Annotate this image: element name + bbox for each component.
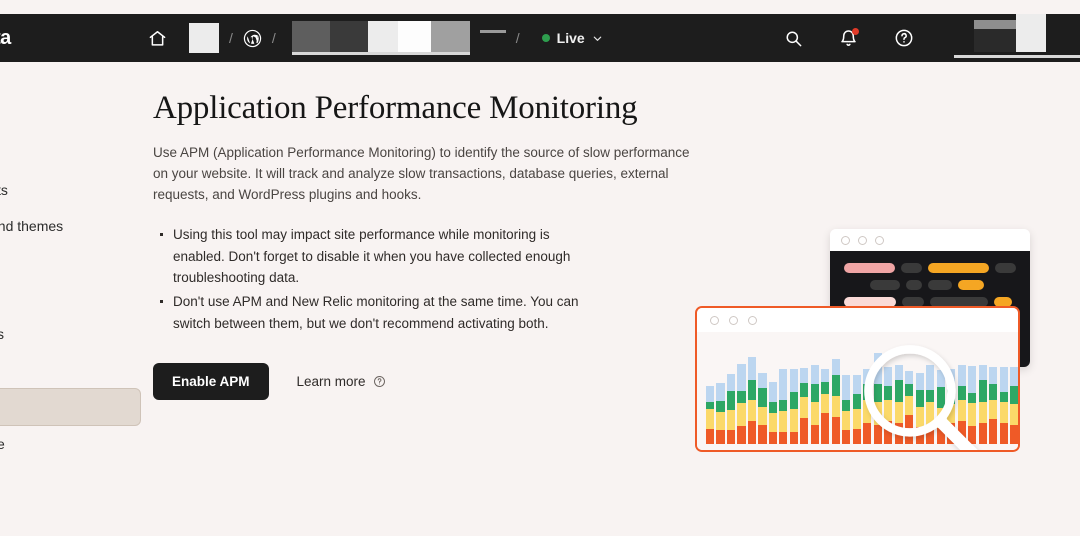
chart-bar-segment-green: [884, 386, 892, 401]
chart-bar-segment-green: [863, 384, 871, 401]
chart-bar-segment-green: [958, 386, 966, 401]
chart-bar-segment-blue: [916, 373, 924, 390]
home-icon[interactable]: [148, 29, 167, 48]
chart-bar-segment-green: [916, 390, 924, 407]
sidebar-item-0[interactable]: s: [0, 80, 141, 116]
sidebar-item-4[interactable]: s: [0, 244, 141, 280]
chart-bar-segment-blue: [821, 369, 829, 381]
chart-bar-segment-yellow: [1010, 404, 1018, 425]
chart-bar-segment-blue: [842, 375, 850, 400]
chart-bar-segment-green: [821, 382, 829, 394]
chart-window: [695, 306, 1020, 452]
chart-bar: [968, 366, 976, 444]
window-dot: [748, 316, 757, 325]
chart-bar: [821, 369, 829, 444]
chart-bar-segment-blue: [1010, 367, 1018, 386]
chart-bar-segment-yellow: [905, 396, 913, 415]
chart-bar-segment-green: [758, 388, 766, 407]
chart-bar-segment-green: [842, 400, 850, 410]
chart-bar-segment-orange: [821, 413, 829, 444]
chart-bar-segment-green: [968, 393, 976, 403]
chart-bar-segment-yellow: [937, 408, 945, 429]
chart-bar-segment-blue: [1000, 367, 1008, 392]
chart-bar-segment-orange: [1010, 425, 1018, 444]
chart-bar-segment-blue: [947, 369, 955, 388]
action-row: Enable APM Learn more: [153, 363, 713, 400]
chart-bar: [716, 383, 724, 444]
chart-bar-segment-yellow: [968, 403, 976, 426]
question-circle-icon: [373, 375, 386, 388]
chart-bar-segment-orange: [926, 425, 934, 444]
chart-bar: [800, 368, 808, 444]
sidebar-item-label: se: [0, 436, 5, 452]
chart-bar-segment-orange: [779, 432, 787, 444]
redacted-path-segment: [480, 30, 506, 33]
redacted-site-logo: [189, 23, 219, 53]
brand-logo[interactable]: ta: [0, 27, 30, 50]
page-title: Application Performance Monitoring: [153, 90, 713, 127]
window-dot: [710, 316, 719, 325]
chart-bar-segment-yellow: [779, 411, 787, 432]
chart-bar-segment-orange: [800, 418, 808, 444]
performance-chart: [697, 332, 1018, 450]
learn-more-label: Learn more: [297, 374, 366, 389]
sidebar-item-label: cs: [0, 326, 4, 342]
chart-bar-segment-blue: [758, 373, 766, 388]
top-bar: ta / / / Live: [0, 14, 1080, 62]
breadcrumb-separator-1: /: [229, 30, 233, 46]
live-status-dot: [542, 34, 550, 42]
chart-bar-segment-green: [832, 375, 840, 396]
search-icon[interactable]: [784, 29, 803, 48]
chart-bar-segment-blue: [926, 365, 934, 390]
chart-bar: [905, 371, 913, 444]
chart-bar-segment-green: [947, 388, 955, 405]
chart-bar-segment-green: [905, 384, 913, 396]
code-line: [844, 280, 1016, 290]
chart-bar: [842, 375, 850, 444]
window-dot: [875, 236, 884, 245]
chart-bar: [895, 365, 903, 444]
chart-bar-segment-orange: [989, 419, 997, 444]
chart-bar-segment-yellow: [800, 397, 808, 418]
chart-bar: [884, 367, 892, 444]
chart-bar-segment-orange: [842, 430, 850, 444]
top-bar-actions: [784, 18, 1080, 58]
chart-bar-segment-yellow: [958, 400, 966, 421]
chart-bar-segment-blue: [979, 365, 987, 380]
sidebar-item-3[interactable]: and themes: [0, 208, 141, 244]
chart-bar-segment-yellow: [716, 412, 724, 431]
chart-bar-segment-green: [716, 401, 724, 411]
chart-bar-segment-yellow: [737, 403, 745, 426]
sidebar-item-5[interactable]: r: [0, 280, 141, 316]
chart-bar-segment-yellow: [947, 404, 955, 423]
chart-bar-segment-orange: [716, 430, 724, 444]
chart-bar-segment-green: [979, 380, 987, 403]
chart-bar-segment-blue: [989, 367, 997, 384]
chart-bar-segment-orange: [853, 429, 861, 444]
chart-bar-segment-yellow: [916, 407, 924, 428]
sidebar: s s cts and themes s r cs g se: [0, 62, 141, 536]
sidebar-item-6[interactable]: cs: [0, 316, 141, 352]
chart-bar: [916, 373, 924, 444]
chart-bar-segment-yellow: [1000, 402, 1008, 423]
chart-bar-segment-green: [790, 392, 798, 409]
chart-bar: [926, 365, 934, 444]
chart-bar-segment-yellow: [979, 402, 987, 423]
notification-badge: [852, 28, 859, 35]
chart-bar-segment-green: [811, 384, 819, 403]
chart-bar: [958, 365, 966, 444]
chart-bar-segment-yellow: [863, 400, 871, 423]
chart-bar-segment-yellow: [769, 413, 777, 432]
chart-bar-segment-yellow: [758, 407, 766, 426]
chart-bar-segment-orange: [958, 421, 966, 444]
chart-bar: [779, 369, 787, 444]
chart-bar-segment-green: [895, 380, 903, 403]
chart-bar: [811, 365, 819, 444]
chart-bar-segment-yellow: [895, 402, 903, 423]
chart-bar: [790, 369, 798, 444]
chart-bar-segment-blue: [937, 370, 945, 387]
breadcrumb-separator-3: /: [516, 30, 520, 46]
environment-label: Live: [557, 30, 585, 46]
chart-bar-segment-blue: [863, 369, 871, 384]
chart-bar-segment-blue: [727, 374, 735, 391]
chart-bar-segment-orange: [748, 421, 756, 444]
chart-bar-segment-green: [727, 391, 735, 410]
enable-apm-button[interactable]: Enable APM: [153, 363, 269, 400]
chart-bar-segment-yellow: [790, 409, 798, 432]
chart-bar: [832, 359, 840, 444]
chart-bar-segment-orange: [874, 425, 882, 444]
chart-bar-segment-orange: [790, 432, 798, 444]
chart-bar-segment-green: [737, 391, 745, 403]
sidebar-item-label: cts: [0, 182, 8, 198]
chart-bar-segment-blue: [853, 375, 861, 394]
chart-bar-segment-green: [1000, 392, 1008, 402]
chart-bar-segment-blue: [748, 357, 756, 380]
chart-bar-segment-blue: [895, 365, 903, 380]
chart-bar-segment-yellow: [706, 409, 714, 430]
chart-bar-segment-yellow: [811, 402, 819, 425]
sidebar-item-active-apm[interactable]: [0, 388, 141, 426]
chart-bar: [1010, 367, 1018, 444]
breadcrumb-separator-2: /: [272, 30, 276, 46]
chart-bar-segment-blue: [716, 383, 724, 402]
chart-bar-segment-orange: [832, 417, 840, 444]
window-dot: [729, 316, 738, 325]
chart-bar-segment-orange: [937, 428, 945, 444]
sidebar-item-1[interactable]: s: [0, 116, 141, 152]
chart-bar-segment-orange: [916, 427, 924, 444]
wordpress-icon[interactable]: [243, 29, 262, 48]
chart-bar-segment-blue: [874, 353, 882, 384]
notes-list: Using this tool may impact site performa…: [153, 224, 603, 335]
chart-bar-segment-orange: [706, 429, 714, 444]
intro-paragraph: Use APM (Application Performance Monitor…: [153, 143, 701, 206]
list-item: Using this tool may impact site performa…: [153, 224, 603, 290]
apm-monitoring-illustration: [690, 222, 1040, 472]
chart-bar: [1000, 367, 1008, 444]
window-dot: [858, 236, 867, 245]
chart-bar-segment-yellow: [748, 400, 756, 421]
chart-bar-segment-orange: [1000, 423, 1008, 444]
redacted-user-account: [954, 18, 1080, 58]
chart-bar: [737, 364, 745, 444]
chart-bar: [989, 367, 997, 444]
chart-bar-segment-orange: [758, 425, 766, 444]
question-circle-icon[interactable]: [894, 28, 914, 48]
chart-bar: [727, 374, 735, 444]
sidebar-spacer: [0, 152, 141, 172]
chart-bar: [979, 365, 987, 444]
sidebar-item-9[interactable]: se: [0, 426, 141, 462]
chart-bar-segment-green: [874, 384, 882, 403]
chart-bar: [937, 370, 945, 444]
chart-bar-segment-orange: [811, 425, 819, 444]
chart-bar-segment-green: [989, 384, 997, 401]
chart-window-titlebar: [697, 308, 1018, 332]
chart-bar-segment-orange: [737, 426, 745, 444]
chart-bar-segment-yellow: [832, 396, 840, 417]
chart-bar-segment-green: [926, 390, 934, 402]
chart-bar: [863, 369, 871, 444]
chart-bar-segment-yellow: [874, 402, 882, 425]
window-dot: [841, 236, 850, 245]
chart-bar: [706, 386, 714, 444]
main-content: Application Performance Monitoring Use A…: [153, 62, 713, 400]
chart-bar: [853, 375, 861, 444]
chart-bar-segment-orange: [947, 423, 955, 444]
chart-bar-segment-green: [800, 383, 808, 398]
chart-bar-segment-yellow: [853, 409, 861, 430]
chart-bar-segment-green: [937, 387, 945, 408]
chart-bars: [697, 340, 1018, 444]
chart-bar-segment-orange: [979, 423, 987, 444]
chart-bar-segment-orange: [968, 426, 976, 444]
chart-bar-segment-orange: [895, 423, 903, 444]
chart-bar: [748, 357, 756, 444]
chart-bar: [874, 353, 882, 445]
chart-bar-segment-orange: [769, 432, 777, 444]
chart-bar: [769, 382, 777, 444]
chart-bar-segment-yellow: [926, 402, 934, 425]
chart-bar-segment-orange: [884, 421, 892, 444]
sidebar-item-label: and themes: [0, 218, 63, 234]
chart-bar-segment-blue: [800, 368, 808, 383]
chart-bar-segment-yellow: [989, 400, 997, 419]
redacted-site-name: [292, 21, 470, 55]
learn-more-link[interactable]: Learn more: [297, 374, 386, 389]
app-root: ta / / / Live: [0, 0, 1080, 536]
chart-bar-segment-green: [853, 394, 861, 409]
chart-bar-segment-blue: [884, 367, 892, 386]
chart-bar: [758, 373, 766, 444]
chart-bar-segment-blue: [832, 359, 840, 376]
chart-bar-segment-blue: [706, 386, 714, 403]
list-item: Don't use APM and New Relic monitoring a…: [153, 291, 603, 335]
chart-bar-segment-orange: [863, 423, 871, 444]
chart-bar-segment-blue: [958, 365, 966, 386]
chart-bar-segment-blue: [779, 369, 787, 400]
chart-bar-segment-yellow: [884, 400, 892, 421]
chart-bar: [947, 369, 955, 444]
chart-bar-segment-yellow: [821, 394, 829, 413]
bell-icon[interactable]: [839, 29, 858, 48]
sidebar-item-2[interactable]: cts: [0, 172, 141, 208]
chart-bar-segment-orange: [727, 430, 735, 444]
chart-bar-segment-blue: [905, 371, 913, 383]
sidebar-item-7[interactable]: g: [0, 352, 141, 388]
chevron-down-icon: [592, 33, 603, 44]
chart-bar-segment-blue: [811, 365, 819, 384]
environment-switcher[interactable]: Live: [542, 30, 603, 46]
chart-bar-segment-blue: [968, 366, 976, 393]
chart-bar-segment-blue: [790, 369, 798, 392]
chart-bar-segment-yellow: [842, 411, 850, 431]
chart-bar-segment-yellow: [727, 410, 735, 431]
chart-bar-segment-orange: [905, 415, 913, 444]
chart-bar-segment-green: [769, 402, 777, 412]
chart-bar-segment-green: [779, 400, 787, 410]
chart-bar-segment-green: [1010, 386, 1018, 405]
chart-bar-segment-blue: [737, 364, 745, 391]
chart-bar-segment-blue: [769, 382, 777, 403]
chart-bar-segment-green: [748, 380, 756, 401]
code-line: [844, 263, 1016, 273]
code-window-titlebar: [830, 229, 1030, 251]
